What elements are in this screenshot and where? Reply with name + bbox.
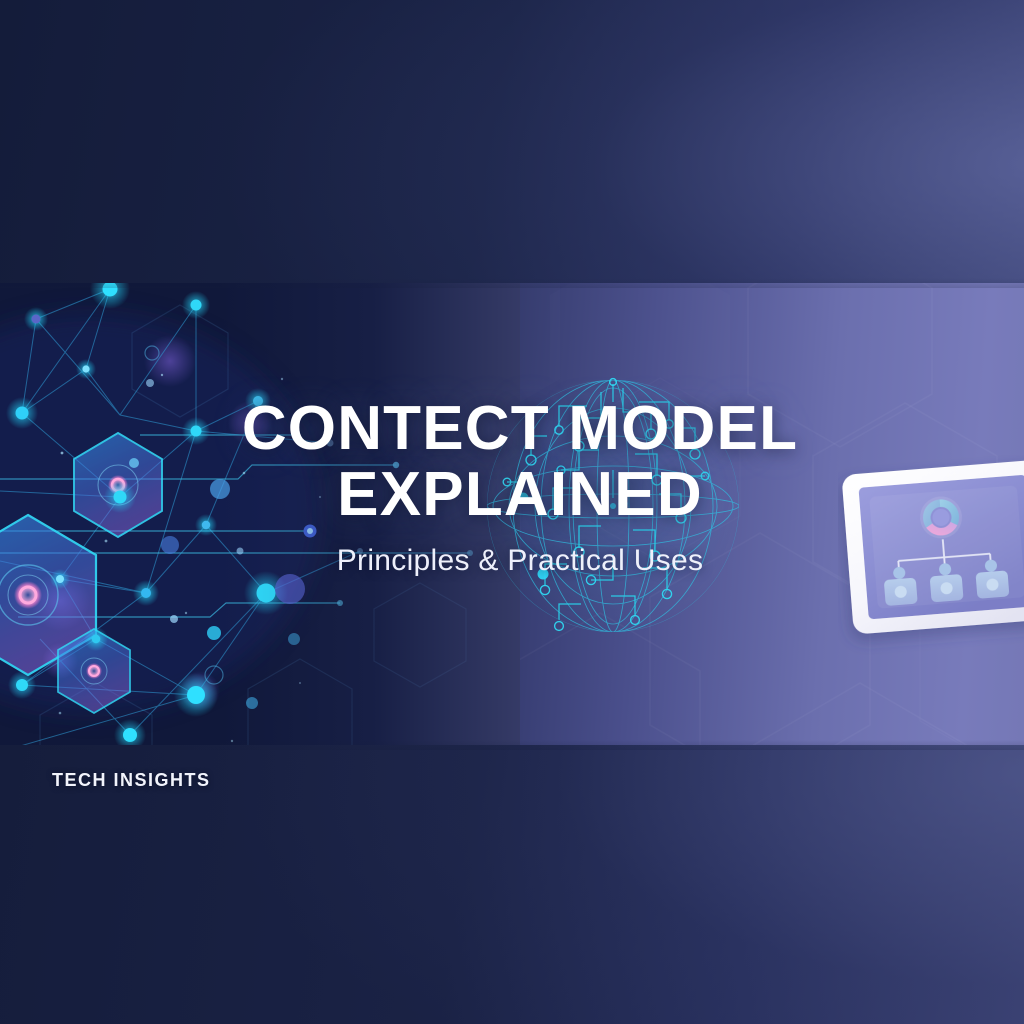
page-title: CONTECT MODEL EXPLAINED <box>178 396 862 528</box>
tablet-hierarchy-diagram <box>838 455 1024 655</box>
banner-canvas: CONTECT MODEL EXPLAINED Principles & Pra… <box>0 0 1024 1024</box>
title-block: CONTECT MODEL EXPLAINED Principles & Pra… <box>178 396 862 578</box>
brand-label: TECH INSIGHTS <box>52 770 211 791</box>
top-background-band <box>0 0 1024 283</box>
page-subtitle: Principles & Practical Uses <box>178 544 862 578</box>
